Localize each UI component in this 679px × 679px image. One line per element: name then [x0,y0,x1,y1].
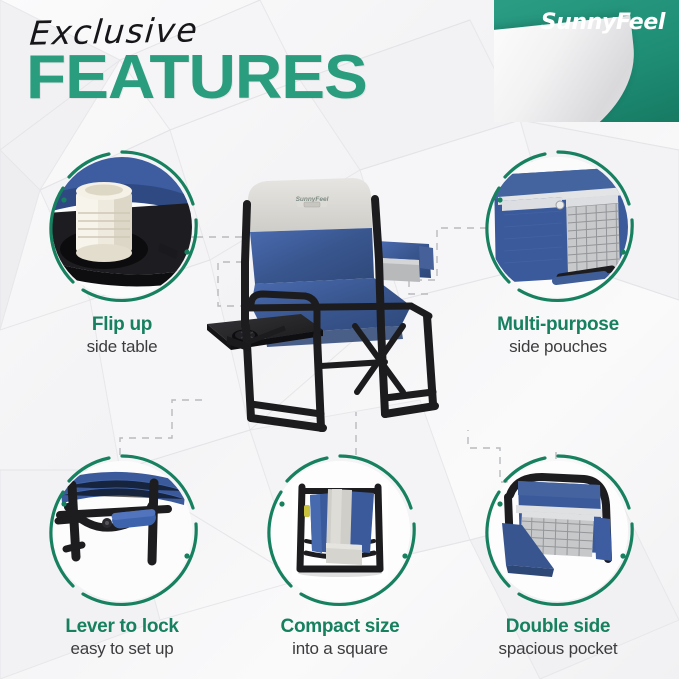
feature-caption-compact-size: Compact size into a square [254,616,426,659]
feature-title-flip-up: Flip up [36,314,208,336]
feature-circle-multi-purpose [479,148,637,306]
feature-title-compact-size: Compact size [254,616,426,638]
feature-circle-lever-to-lock [43,452,201,610]
feature-subtitle-flip-up: side table [36,336,208,357]
feature-subtitle-multi-purpose: side pouches [472,336,644,357]
feature-flip-up[interactable]: Flip up side table [36,148,208,357]
feature-title-double-side: Double side [472,616,644,638]
feature-subtitle-compact-size: into a square [254,638,426,659]
feature-caption-multi-purpose: Multi-purpose side pouches [472,314,644,357]
feature-circle-flip-up [43,148,201,306]
feature-double-side[interactable]: Double side spacious pocket [472,452,644,659]
feature-circle-double-side [479,452,637,610]
feature-ring-double-side [479,452,637,610]
feature-ring-compact-size [261,452,419,610]
feature-subtitle-lever-to-lock: easy to set up [36,638,208,659]
infographic-page: Exclusive FEATURES SunnyFeel [0,0,679,679]
chair-logo-patch: SunnyFeel [296,194,329,207]
feature-compact-size[interactable]: Compact size into a square [254,452,426,659]
hero-product-chair: SunnyFeel [205,166,473,448]
feature-title-lever-to-lock: Lever to lock [36,616,208,638]
feature-caption-flip-up: Flip up side table [36,314,208,357]
feature-ring-flip-up [43,148,201,306]
feature-subtitle-double-side: spacious pocket [472,638,644,659]
feature-ring-multi-purpose [479,148,637,306]
feature-lever-to-lock[interactable]: Lever to lock easy to set up [36,452,208,659]
feature-title-multi-purpose: Multi-purpose [472,314,644,336]
feature-ring-lever-to-lock [43,452,201,610]
brand-logo: SunnyFeel [541,10,665,35]
feature-circle-compact-size [261,452,419,610]
page-title: FEATURES [26,47,367,109]
feature-multi-purpose[interactable]: Multi-purpose side pouches [472,148,644,357]
feature-caption-lever-to-lock: Lever to lock easy to set up [36,616,208,659]
feature-caption-double-side: Double side spacious pocket [472,616,644,659]
